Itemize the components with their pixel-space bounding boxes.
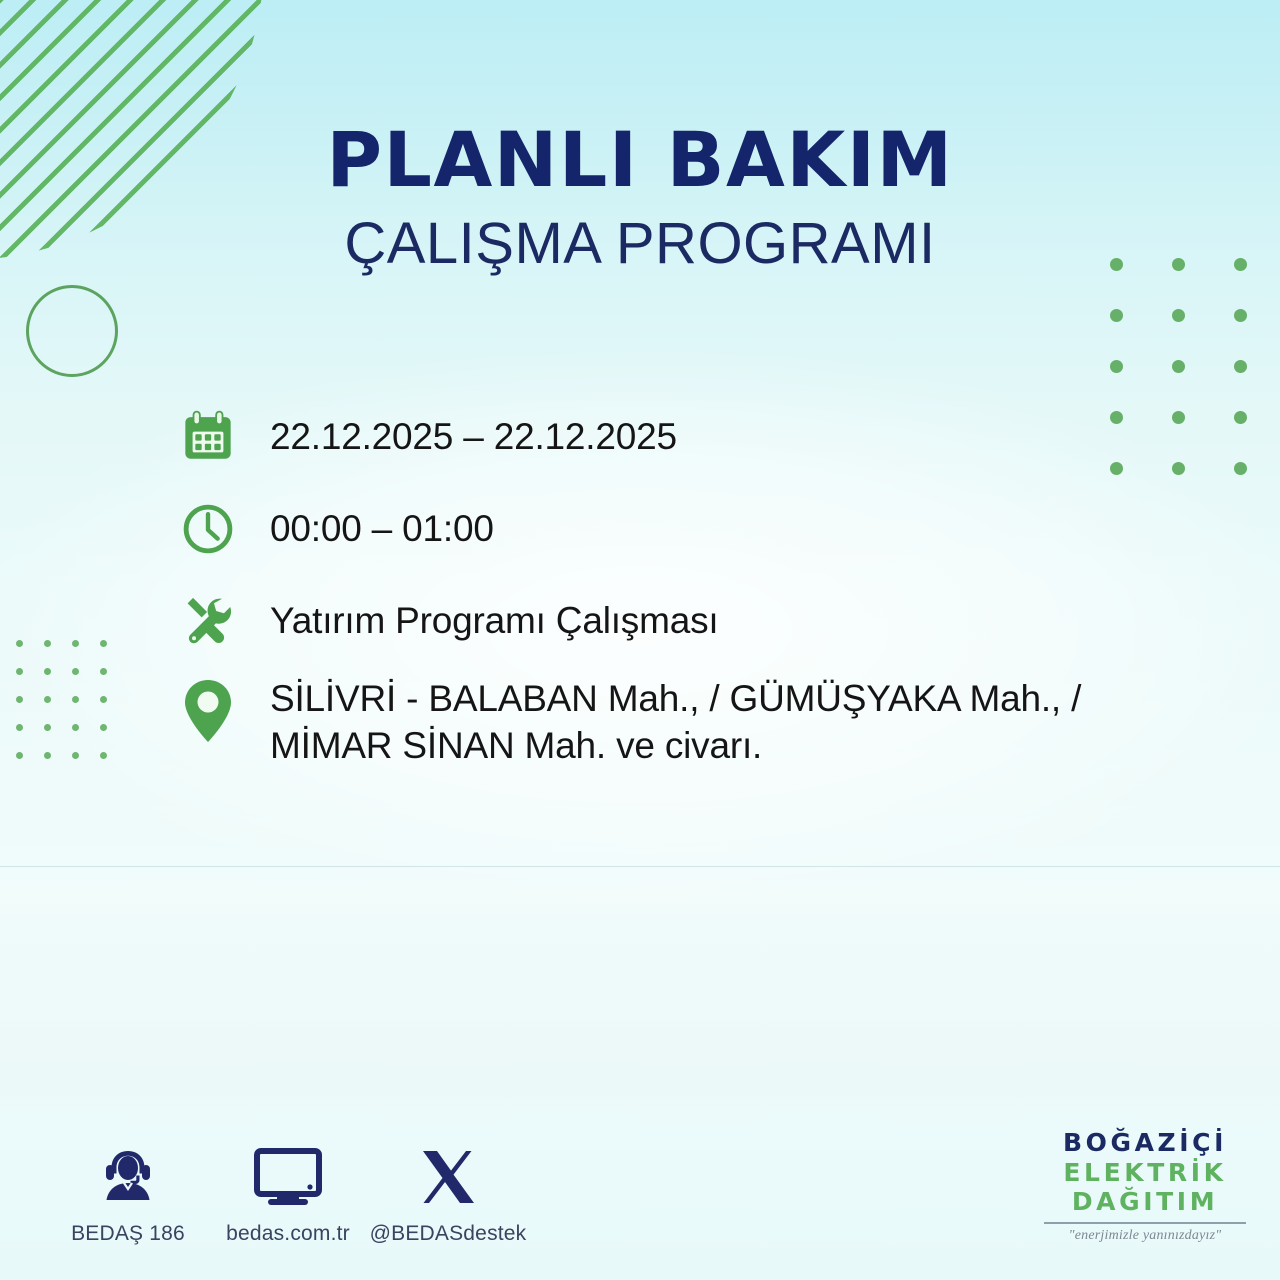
outage-details: 22.12.2025 – 22.12.2025 00:00 – 01:00 (176, 405, 1186, 798)
x-twitter-icon (368, 1140, 528, 1216)
contact-footer: BEDAŞ 186 bedas.com.tr @BEDASdestek (48, 1140, 528, 1246)
page-subtitle: ÇALIŞMA PROGRAMI (0, 212, 1280, 277)
location-pin-icon (176, 679, 240, 743)
section-divider (0, 866, 1280, 867)
contact-item-x[interactable]: @BEDASdestek (368, 1140, 528, 1246)
logo-divider (1044, 1222, 1246, 1224)
detail-row-location: SİLİVRİ - BALABAN Mah., / GÜMÜŞYAKA Mah.… (176, 673, 1186, 770)
calendar-icon (176, 405, 240, 469)
contact-item-phone[interactable]: BEDAŞ 186 (48, 1140, 208, 1246)
clock-icon (176, 497, 240, 561)
contact-label-x: @BEDASdestek (368, 1222, 528, 1246)
contact-label-website: bedas.com.tr (208, 1222, 368, 1246)
location-text: SİLİVRİ - BALABAN Mah., / GÜMÜŞYAKA Mah.… (240, 673, 1186, 770)
circle-outline-decoration (26, 285, 118, 377)
date-range-text: 22.12.2025 – 22.12.2025 (240, 405, 677, 460)
time-range-text: 00:00 – 01:00 (240, 497, 494, 552)
work-type-text: Yatırım Programı Çalışması (240, 589, 718, 644)
dot-grid-left-decoration (16, 640, 128, 780)
logo-line-elektrik: ELEKTRİK (1040, 1158, 1250, 1188)
contact-item-website[interactable]: bedas.com.tr (208, 1140, 368, 1246)
poster-canvas: PLANLI BAKIM ÇALIŞMA PROGRAMI (0, 0, 1280, 1280)
contact-label-phone: BEDAŞ 186 (48, 1222, 208, 1246)
support-agent-icon (48, 1140, 208, 1216)
detail-row-time: 00:00 – 01:00 (176, 497, 1186, 561)
monitor-icon (208, 1140, 368, 1216)
logo-line-dagitim: DAĞITIM (1040, 1187, 1250, 1217)
page-title: PLANLI BAKIM (0, 122, 1280, 198)
detail-row-work-type: Yatırım Programı Çalışması (176, 589, 1186, 653)
logo-tagline: "enerjimizle yanınızdayız" (1040, 1228, 1250, 1244)
tools-icon (176, 589, 240, 653)
logo-line-bogazici: BOĞAZİÇİ (1040, 1128, 1250, 1158)
poster-header: PLANLI BAKIM ÇALIŞMA PROGRAMI (0, 122, 1280, 277)
company-logo: BOĞAZİÇİ ELEKTRİK DAĞITIM "enerjimizle y… (1040, 1128, 1250, 1244)
detail-row-date: 22.12.2025 – 22.12.2025 (176, 405, 1186, 469)
